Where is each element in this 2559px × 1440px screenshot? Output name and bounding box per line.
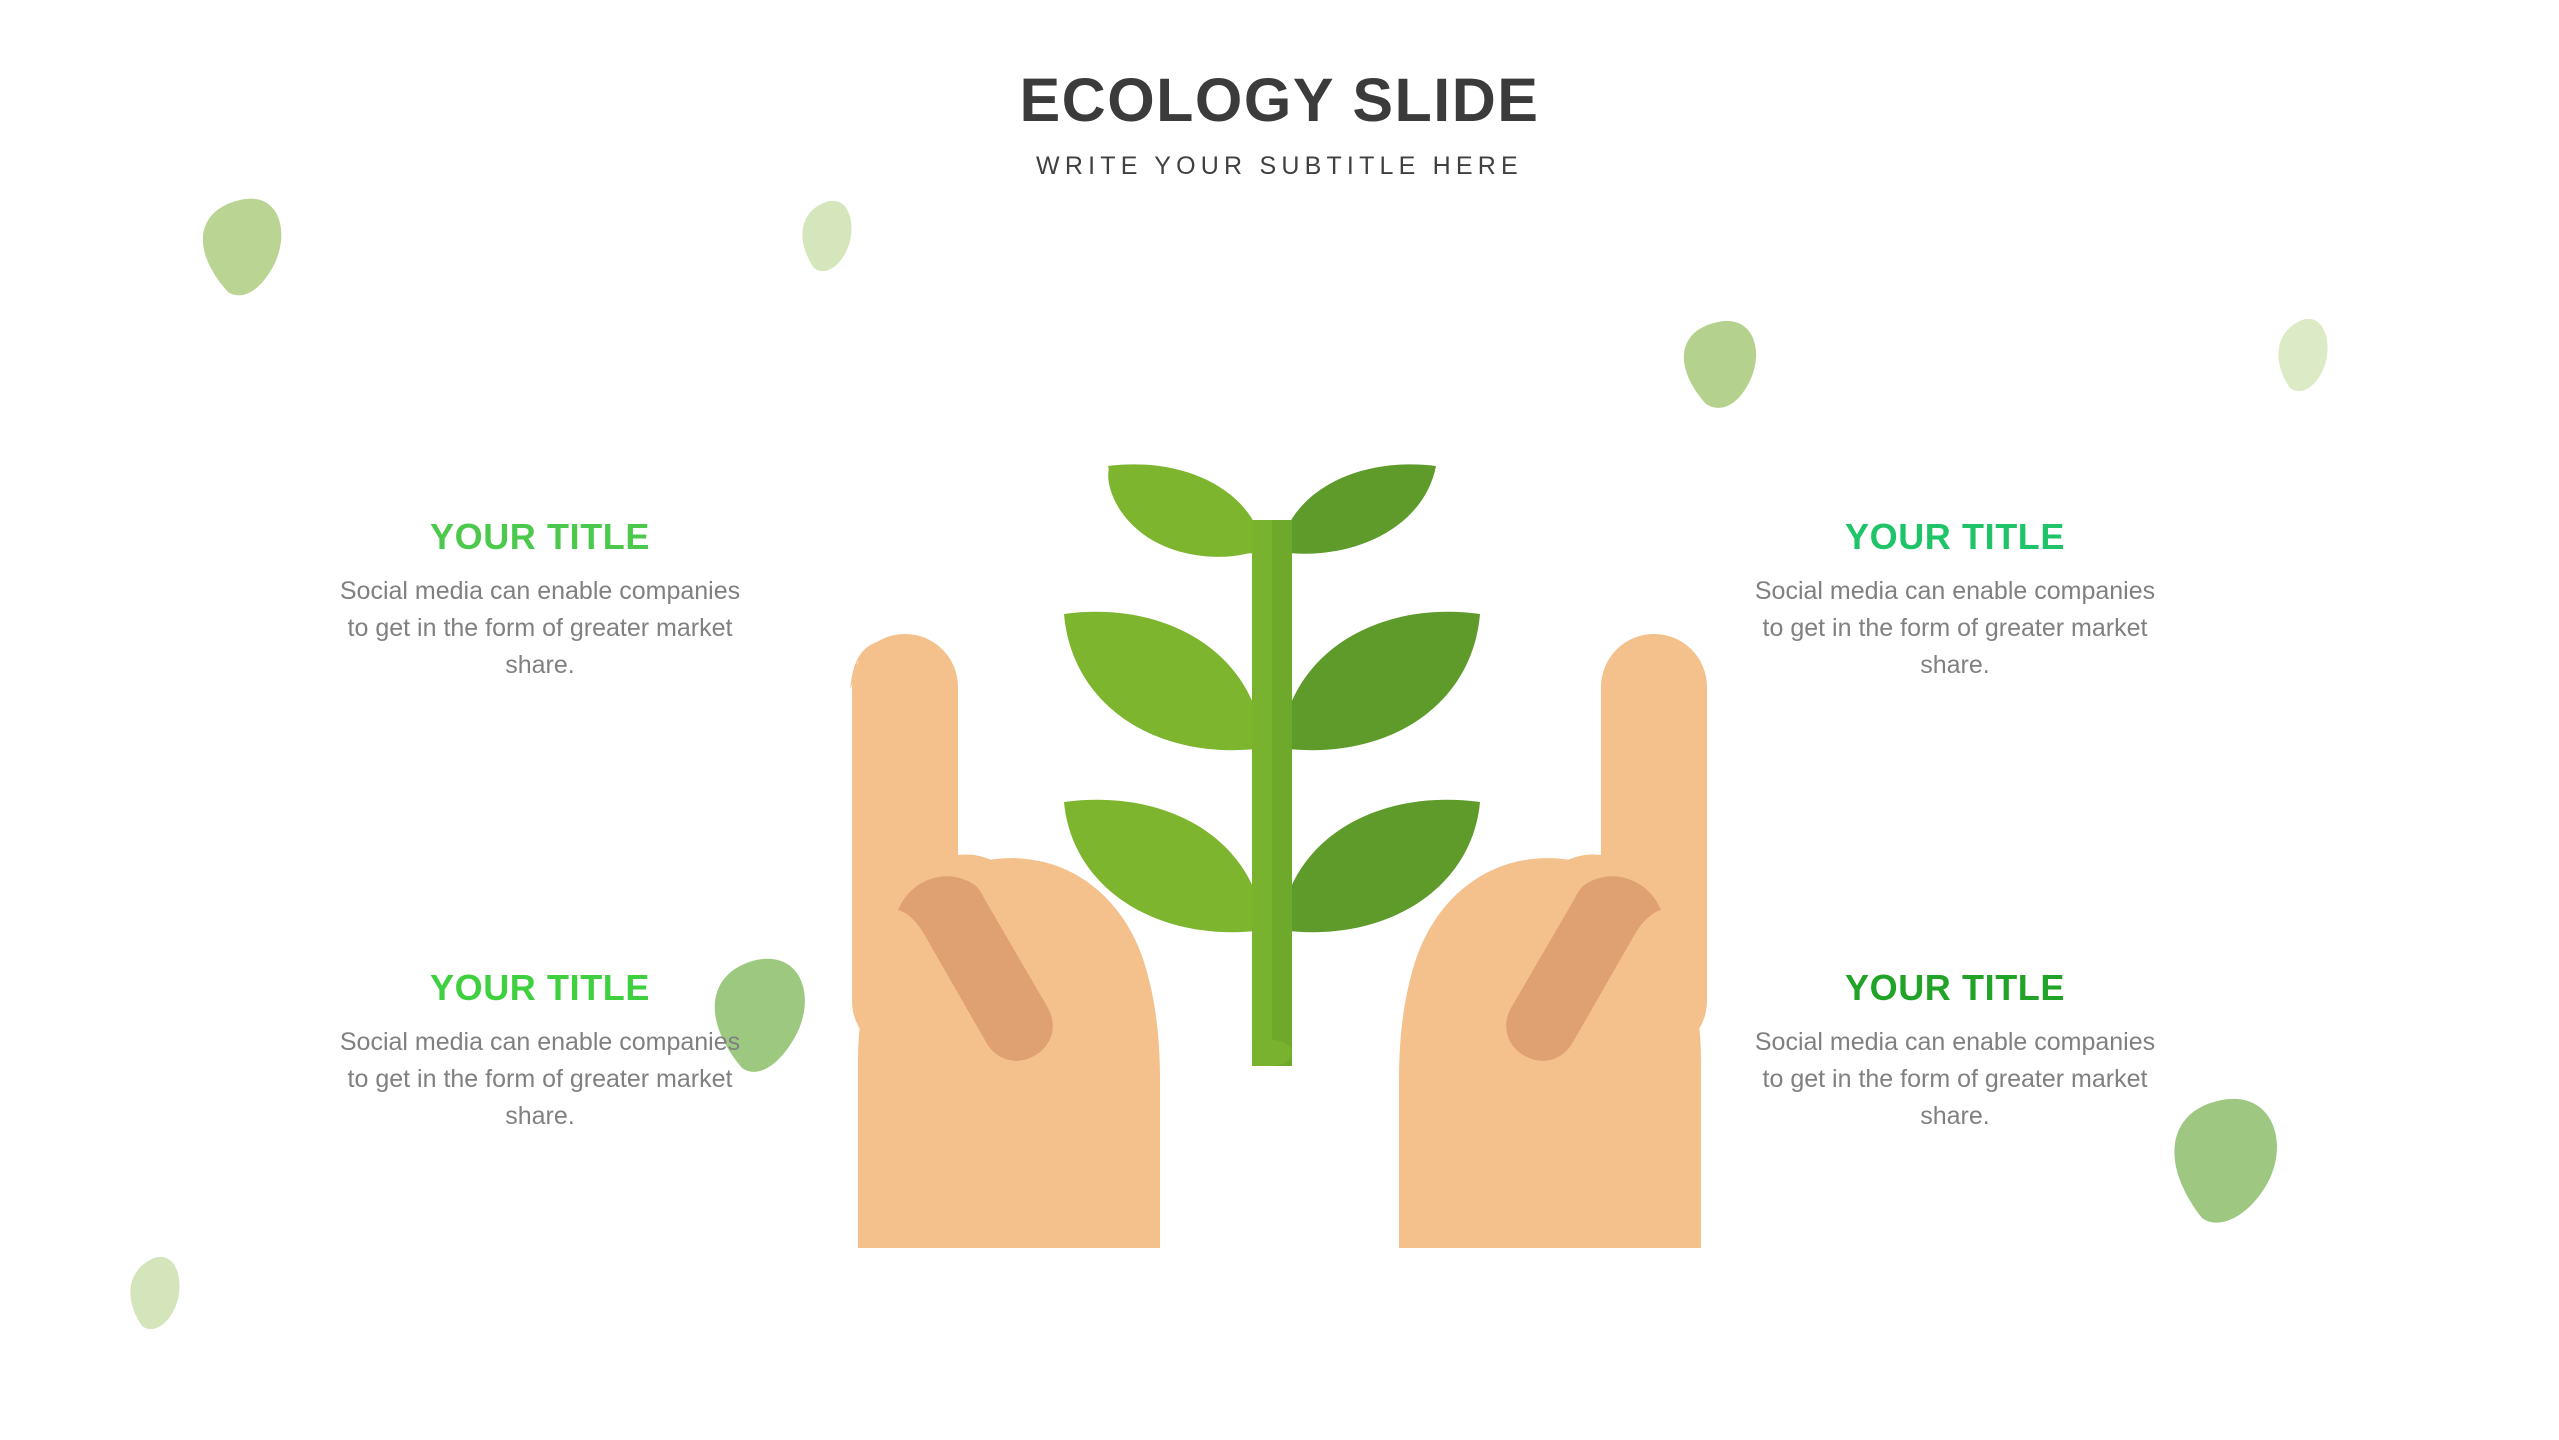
plant-leaf-low-right [1280,800,1480,932]
decorative-leaves-group [130,199,2327,1329]
left-hand-icon [850,634,1160,1248]
info-block-body: Social media can enable companies to get… [1745,1024,2165,1135]
plant-leaf-sprout-left-shape [1108,464,1264,553]
right-hand-icon [1399,634,1707,1248]
leaf-right-upper-icon [1684,321,1756,408]
hands-group [850,634,1707,1248]
info-block-top-left: YOUR TITLE Social media can enable compa… [330,517,750,684]
page-subtitle: WRITE YOUR SUBTITLE HERE [0,152,2559,181]
leaf-bottom-right-icon [2174,1099,2277,1223]
leaf-far-left-top-icon [203,199,281,296]
slide-header: ECOLOGY SLIDE WRITE YOUR SUBTITLE HERE [0,68,2559,181]
plant-leaf-mid-left [1064,612,1264,750]
info-block-title: YOUR TITLE [1745,517,2165,557]
info-block-bottom-left: YOUR TITLE Social media can enable compa… [330,968,750,1135]
info-block-title: YOUR TITLE [1745,968,2165,1008]
page-title: ECOLOGY SLIDE [0,68,2559,132]
info-block-title: YOUR TITLE [330,968,750,1008]
hands-holding-plant-illustration [0,0,2559,1440]
plant-leaf-low-left [1064,800,1264,932]
plant-leaf-sprout-left [1108,465,1262,557]
info-block-body: Social media can enable companies to get… [330,573,750,684]
info-block-top-right: YOUR TITLE Social media can enable compa… [1745,517,2165,684]
leaf-bottom-left-icon [130,1257,179,1329]
ecology-slide: ECOLOGY SLIDE WRITE YOUR SUBTITLE HERE [0,0,2559,1440]
leaf-far-right-top-icon [2278,319,2327,391]
info-block-bottom-right: YOUR TITLE Social media can enable compa… [1745,968,2165,1135]
leaf-bottom-center-icon [1604,1175,1650,1241]
info-block-title: YOUR TITLE [330,517,750,557]
plant-leaf-sprout-right [1280,464,1436,553]
plant-leaf-mid-right [1280,612,1480,750]
info-block-body: Social media can enable companies to get… [330,1024,750,1135]
leaf-center-top-icon [802,201,851,271]
plant-icon [1064,464,1480,1066]
info-block-body: Social media can enable companies to get… [1745,573,2165,684]
